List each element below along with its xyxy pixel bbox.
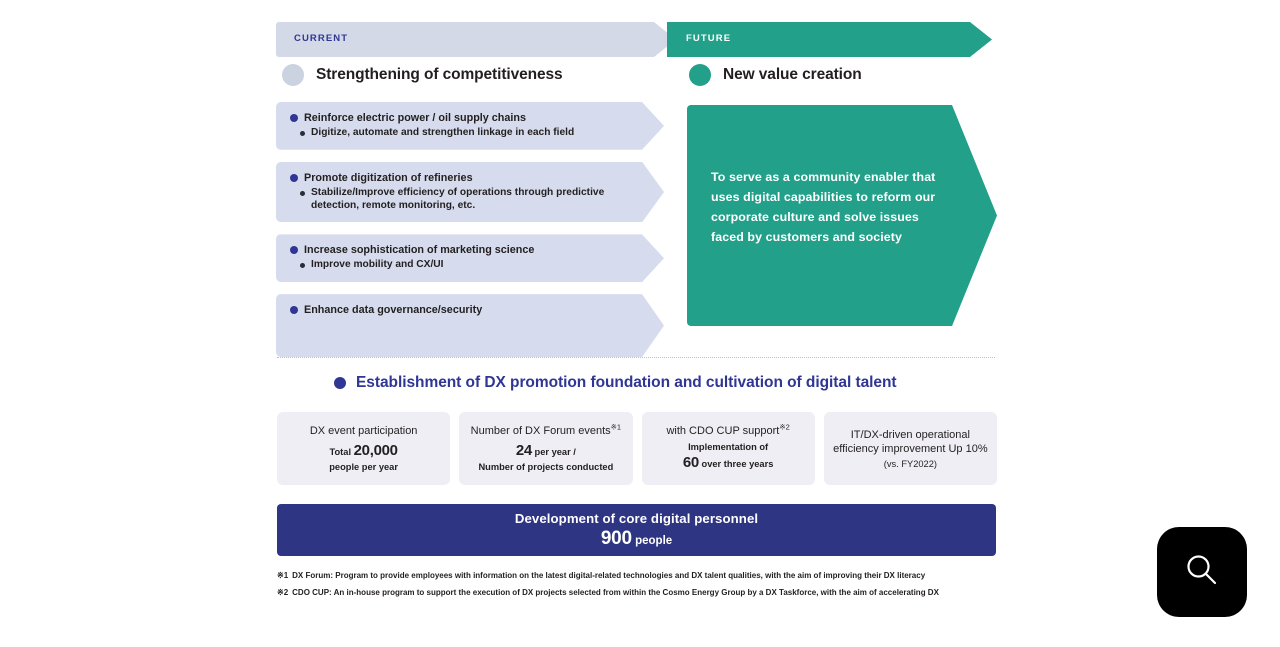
list-item: Promote digitization of refineries Stabi…	[276, 162, 664, 223]
metric-card-value-row: Implementation of 60 over three years	[683, 441, 774, 474]
footnote-text: CDO CUP: An in-house program to support …	[292, 587, 993, 598]
metric-card-list: DX event participation Total 20,000 peop…	[277, 412, 997, 485]
metric-card-title: DX event participation	[310, 424, 418, 438]
core-personnel-value: 900	[601, 528, 632, 549]
core-personnel-title: Development of core digital personnel	[515, 511, 758, 526]
initiative-sub-text: Digitize, automate and strengthen linkag…	[311, 127, 574, 140]
footnote-marker: ※1	[611, 422, 621, 431]
bullet-small-icon	[300, 131, 305, 136]
metric-card-title-text: with CDO CUP support	[666, 425, 779, 437]
legend-future-label: New value creation	[723, 66, 862, 84]
search-icon	[1183, 551, 1221, 594]
legend-dot-gray-icon	[282, 64, 304, 86]
phase-label-current: CURRENT	[294, 33, 348, 44]
initiative-sub-text: Stabilize/Improve efficiency of operatio…	[311, 187, 630, 213]
initiative-title-row: Promote digitization of refineries	[290, 171, 630, 185]
metric-card-dx-forum-events: Number of DX Forum events※1 24 per year …	[459, 412, 632, 485]
initiative-sub-text: Improve mobility and CX/UI	[311, 259, 443, 272]
initiative-title-row: Reinforce electric power / oil supply ch…	[290, 111, 630, 125]
bullet-circle-icon	[290, 114, 298, 122]
metric-value-suffix: per year /	[532, 447, 576, 457]
core-personnel-value-row: 900 people	[601, 528, 672, 550]
list-item: Enhance data governance/security	[276, 294, 664, 357]
section-divider	[277, 357, 995, 358]
initiative-sub-list: Digitize, automate and strengthen linkag…	[300, 127, 630, 140]
footnote-marker: ※1	[277, 570, 288, 581]
metric-card-cdo-cup-support: with CDO CUP support※2 Implementation of…	[642, 412, 815, 485]
initiative-title: Promote digitization of refineries	[304, 171, 473, 185]
future-vision-text: To serve as a community enabler that use…	[711, 167, 949, 247]
initiative-sub-row: Digitize, automate and strengthen linkag…	[300, 127, 630, 140]
metric-card-value-row: 24 per year / Number of projects conduct…	[478, 441, 613, 474]
core-personnel-unit: people	[632, 535, 672, 547]
metric-value-prefix: Implementation of	[688, 442, 768, 452]
metric-value-line2: Number of projects conducted	[478, 462, 613, 472]
list-item: Increase sophistication of marketing sci…	[276, 234, 664, 282]
initiative-sub-row: Stabilize/Improve efficiency of operatio…	[300, 187, 630, 213]
footnote-item: ※2 CDO CUP: An in-house program to suppo…	[277, 587, 993, 598]
initiative-title-row: Enhance data governance/security	[290, 303, 630, 317]
metric-card-title-text: Number of DX Forum events	[471, 425, 611, 437]
current-initiatives-list: Reinforce electric power / oil supply ch…	[276, 102, 664, 369]
metric-value-suffix: over three years	[699, 459, 773, 469]
footnote-item: ※1 DX Forum: Program to provide employee…	[277, 570, 993, 581]
initiative-title: Reinforce electric power / oil supply ch…	[304, 111, 526, 125]
core-personnel-banner: Development of core digital personnel 90…	[277, 504, 996, 556]
metric-value-prefix: Total	[330, 447, 354, 457]
bullet-circle-icon	[290, 246, 298, 254]
metric-value: 24	[516, 442, 532, 459]
bullet-small-icon	[300, 191, 305, 196]
initiative-title: Enhance data governance/security	[304, 303, 482, 317]
bullet-circle-icon	[334, 377, 346, 389]
metric-card-value-row: Total 20,000 people per year	[329, 441, 398, 474]
metric-value: 60	[683, 454, 699, 471]
footnote-text: DX Forum: Program to provide employees w…	[292, 570, 993, 581]
legend-dot-green-icon	[689, 64, 711, 86]
initiative-sub-row: Improve mobility and CX/UI	[300, 259, 630, 272]
footnote-marker: ※2	[779, 422, 789, 431]
slide-canvas: CURRENT FUTURE Strengthening of competit…	[0, 0, 1280, 647]
footnote-list: ※1 DX Forum: Program to provide employee…	[277, 570, 993, 605]
footnote-marker: ※2	[277, 587, 288, 598]
phase-label-future: FUTURE	[686, 33, 731, 44]
phase-banner: CURRENT FUTURE	[276, 22, 992, 57]
bullet-circle-icon	[290, 306, 298, 314]
metric-card-title: with CDO CUP support※2	[666, 424, 789, 438]
initiative-title: Increase sophistication of marketing sci…	[304, 243, 534, 257]
initiative-sub-list: Improve mobility and CX/UI	[300, 259, 630, 272]
page-title: Establishment of DX promotion foundation…	[356, 374, 897, 392]
bullet-circle-icon	[290, 174, 298, 182]
legend-future: New value creation	[689, 64, 862, 86]
metric-card-operational-efficiency: IT/DX-driven operational efficiency impr…	[824, 412, 997, 485]
initiative-title-row: Increase sophistication of marketing sci…	[290, 243, 630, 257]
metric-value: 20,000	[354, 442, 398, 459]
metric-card-title: IT/DX-driven operational efficiency impr…	[830, 428, 991, 457]
legend-current: Strengthening of competitiveness	[282, 64, 563, 86]
initiative-sub-list: Stabilize/Improve efficiency of operatio…	[300, 187, 630, 213]
metric-card-title: Number of DX Forum events※1	[471, 424, 621, 438]
bullet-small-icon	[300, 263, 305, 268]
future-vision-panel: To serve as a community enabler that use…	[687, 105, 997, 326]
foundation-heading: Establishment of DX promotion foundation…	[334, 374, 897, 392]
legend-current-label: Strengthening of competitiveness	[316, 66, 563, 84]
search-button[interactable]	[1157, 527, 1247, 617]
metric-value-line2: people per year	[329, 462, 398, 472]
metric-card-note: (vs. FY2022)	[884, 459, 937, 469]
list-item: Reinforce electric power / oil supply ch…	[276, 102, 664, 150]
metric-card-dx-event-participation: DX event participation Total 20,000 peop…	[277, 412, 450, 485]
